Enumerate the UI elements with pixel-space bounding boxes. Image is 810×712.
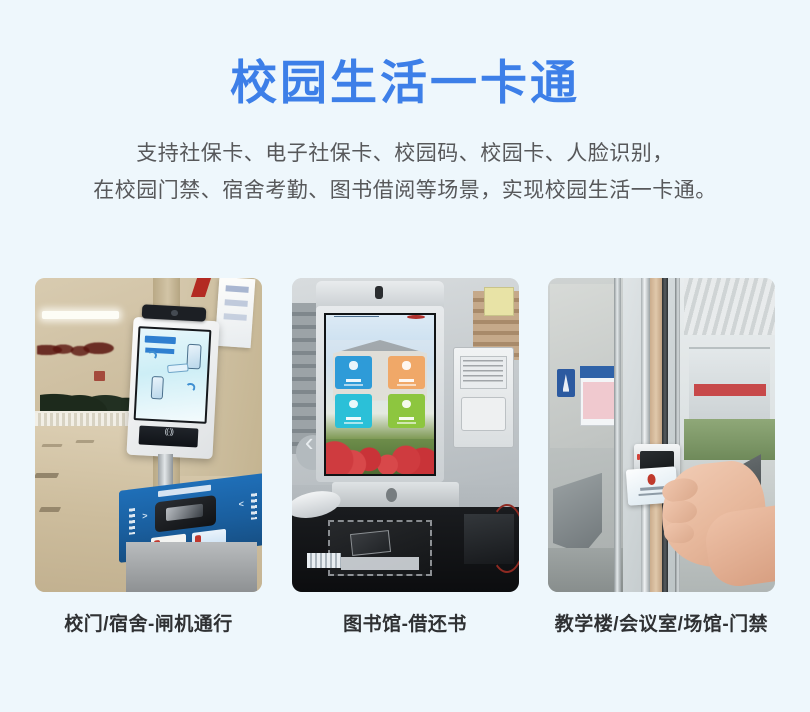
promo-page: 校园生活一卡通 支持社保卡、电子社保卡、校园码、校园卡、人脸识别， 在校园门禁、… <box>0 0 810 712</box>
nfc-wave-icon <box>147 351 157 361</box>
page-header: 校园生活一卡通 支持社保卡、电子社保卡、校园码、校园卡、人脸识别， 在校园门禁、… <box>0 0 810 210</box>
floor-seam <box>75 440 94 443</box>
card-illustration <box>167 364 188 374</box>
kiosk-tile-return[interactable] <box>388 356 426 389</box>
white-railing <box>35 411 142 425</box>
tile-sublabel <box>344 384 364 386</box>
wall-calligraphy <box>37 328 114 372</box>
kiosk-touchscreen[interactable] <box>324 313 435 476</box>
national-emblem-icon <box>648 474 657 485</box>
chevron-left-icon: < <box>239 499 244 510</box>
scan-area-label <box>341 557 418 570</box>
card-slot-strip <box>307 553 341 569</box>
instruction-text-lines <box>463 360 503 386</box>
wall-card-reader-pad <box>461 397 506 430</box>
school-emblem-icon <box>407 315 425 319</box>
interior-floor <box>548 548 623 592</box>
tile-sublabel <box>344 422 364 424</box>
scene-card-list: > < 校门/宿舍-闸机通行 <box>35 278 775 636</box>
door-mullion <box>614 278 621 592</box>
terminal-mounting-pole <box>158 454 174 489</box>
scene-card-gate: > < 校门/宿舍-闸机通行 <box>35 278 262 636</box>
poster-body <box>583 382 617 420</box>
outdoor-canopy <box>684 278 775 335</box>
scene-card-caption: 图书馆-借还书 <box>292 609 519 636</box>
outdoor-building <box>689 347 771 422</box>
turnstile-brand-logo <box>158 485 210 497</box>
card-title-text <box>641 487 665 491</box>
scene-card-caption: 教学楼/会议室/场馆-门禁 <box>548 609 775 636</box>
kiosk-tile-query[interactable] <box>388 394 426 427</box>
kiosk-camera <box>375 286 383 299</box>
wall-mounted-instruction-box <box>453 347 514 447</box>
return-icon <box>402 361 411 370</box>
borrow-icon <box>349 361 358 370</box>
ceiling-light <box>42 311 119 319</box>
turnstile-left-text <box>129 508 135 535</box>
door-mullion <box>662 278 669 592</box>
phone-illustration <box>150 376 164 400</box>
tile-label <box>399 379 414 382</box>
directional-sign-icon <box>557 369 575 397</box>
book-on-scanner <box>349 530 390 556</box>
tile-sublabel <box>397 384 417 386</box>
flower-bed-image <box>326 439 433 474</box>
scene-card-library: 图书馆-借还书 <box>292 278 519 636</box>
query-icon <box>402 400 411 409</box>
chevron-right-icon: > <box>142 511 147 522</box>
turnstile-right-text <box>251 493 257 520</box>
wall-sign <box>484 287 514 315</box>
reader-status-led <box>637 454 641 460</box>
kiosk-tile-borrow[interactable] <box>335 356 373 389</box>
screen-header-bar <box>326 315 433 340</box>
door-mullion <box>641 278 650 592</box>
hanging-notice-banner <box>214 278 255 348</box>
potted-plants <box>40 375 140 413</box>
red-cable <box>489 504 519 573</box>
tile-sublabel <box>397 422 417 424</box>
face-terminal-screen <box>134 326 211 424</box>
phone-illustration <box>186 344 201 370</box>
subtitle-line-2: 在校园门禁、宿舍考勤、图书借阅等场景，实现校园生活一卡通。 <box>0 173 810 210</box>
gate-turnstile-face-terminal-photo: > < <box>35 278 262 592</box>
page-subtitle: 支持社保卡、电子社保卡、校园码、校园卡、人脸识别， 在校园门禁、宿舍考勤、图书借… <box>0 136 810 210</box>
floor-seam <box>35 473 59 478</box>
floor-seam <box>38 507 61 512</box>
tile-label <box>346 417 361 420</box>
library-self-service-kiosk-photo <box>292 278 519 592</box>
search-icon <box>349 400 358 409</box>
nfc-wave-icon <box>185 383 195 393</box>
subtitle-line-1: 支持社保卡、电子社保卡、校园码、校园卡、人脸识别， <box>0 136 810 173</box>
turnstile-scan-pad <box>155 495 216 533</box>
kiosk-neck <box>332 482 459 510</box>
scene-card-access: 教学楼/会议室/场馆-门禁 <box>548 278 775 636</box>
door-access-card-reader-photo <box>548 278 775 592</box>
kiosk-tile-search[interactable] <box>335 394 373 427</box>
tile-label <box>346 379 361 382</box>
screen-title-text <box>334 316 379 317</box>
turnstile-body <box>126 542 258 592</box>
scene-card-caption: 校门/宿舍-闸机通行 <box>35 609 262 636</box>
finger <box>663 522 693 543</box>
terminal-nfc-reader <box>139 426 199 448</box>
screen-headline <box>145 336 176 345</box>
tile-label <box>399 417 414 420</box>
page-title: 校园生活一卡通 <box>0 56 810 110</box>
